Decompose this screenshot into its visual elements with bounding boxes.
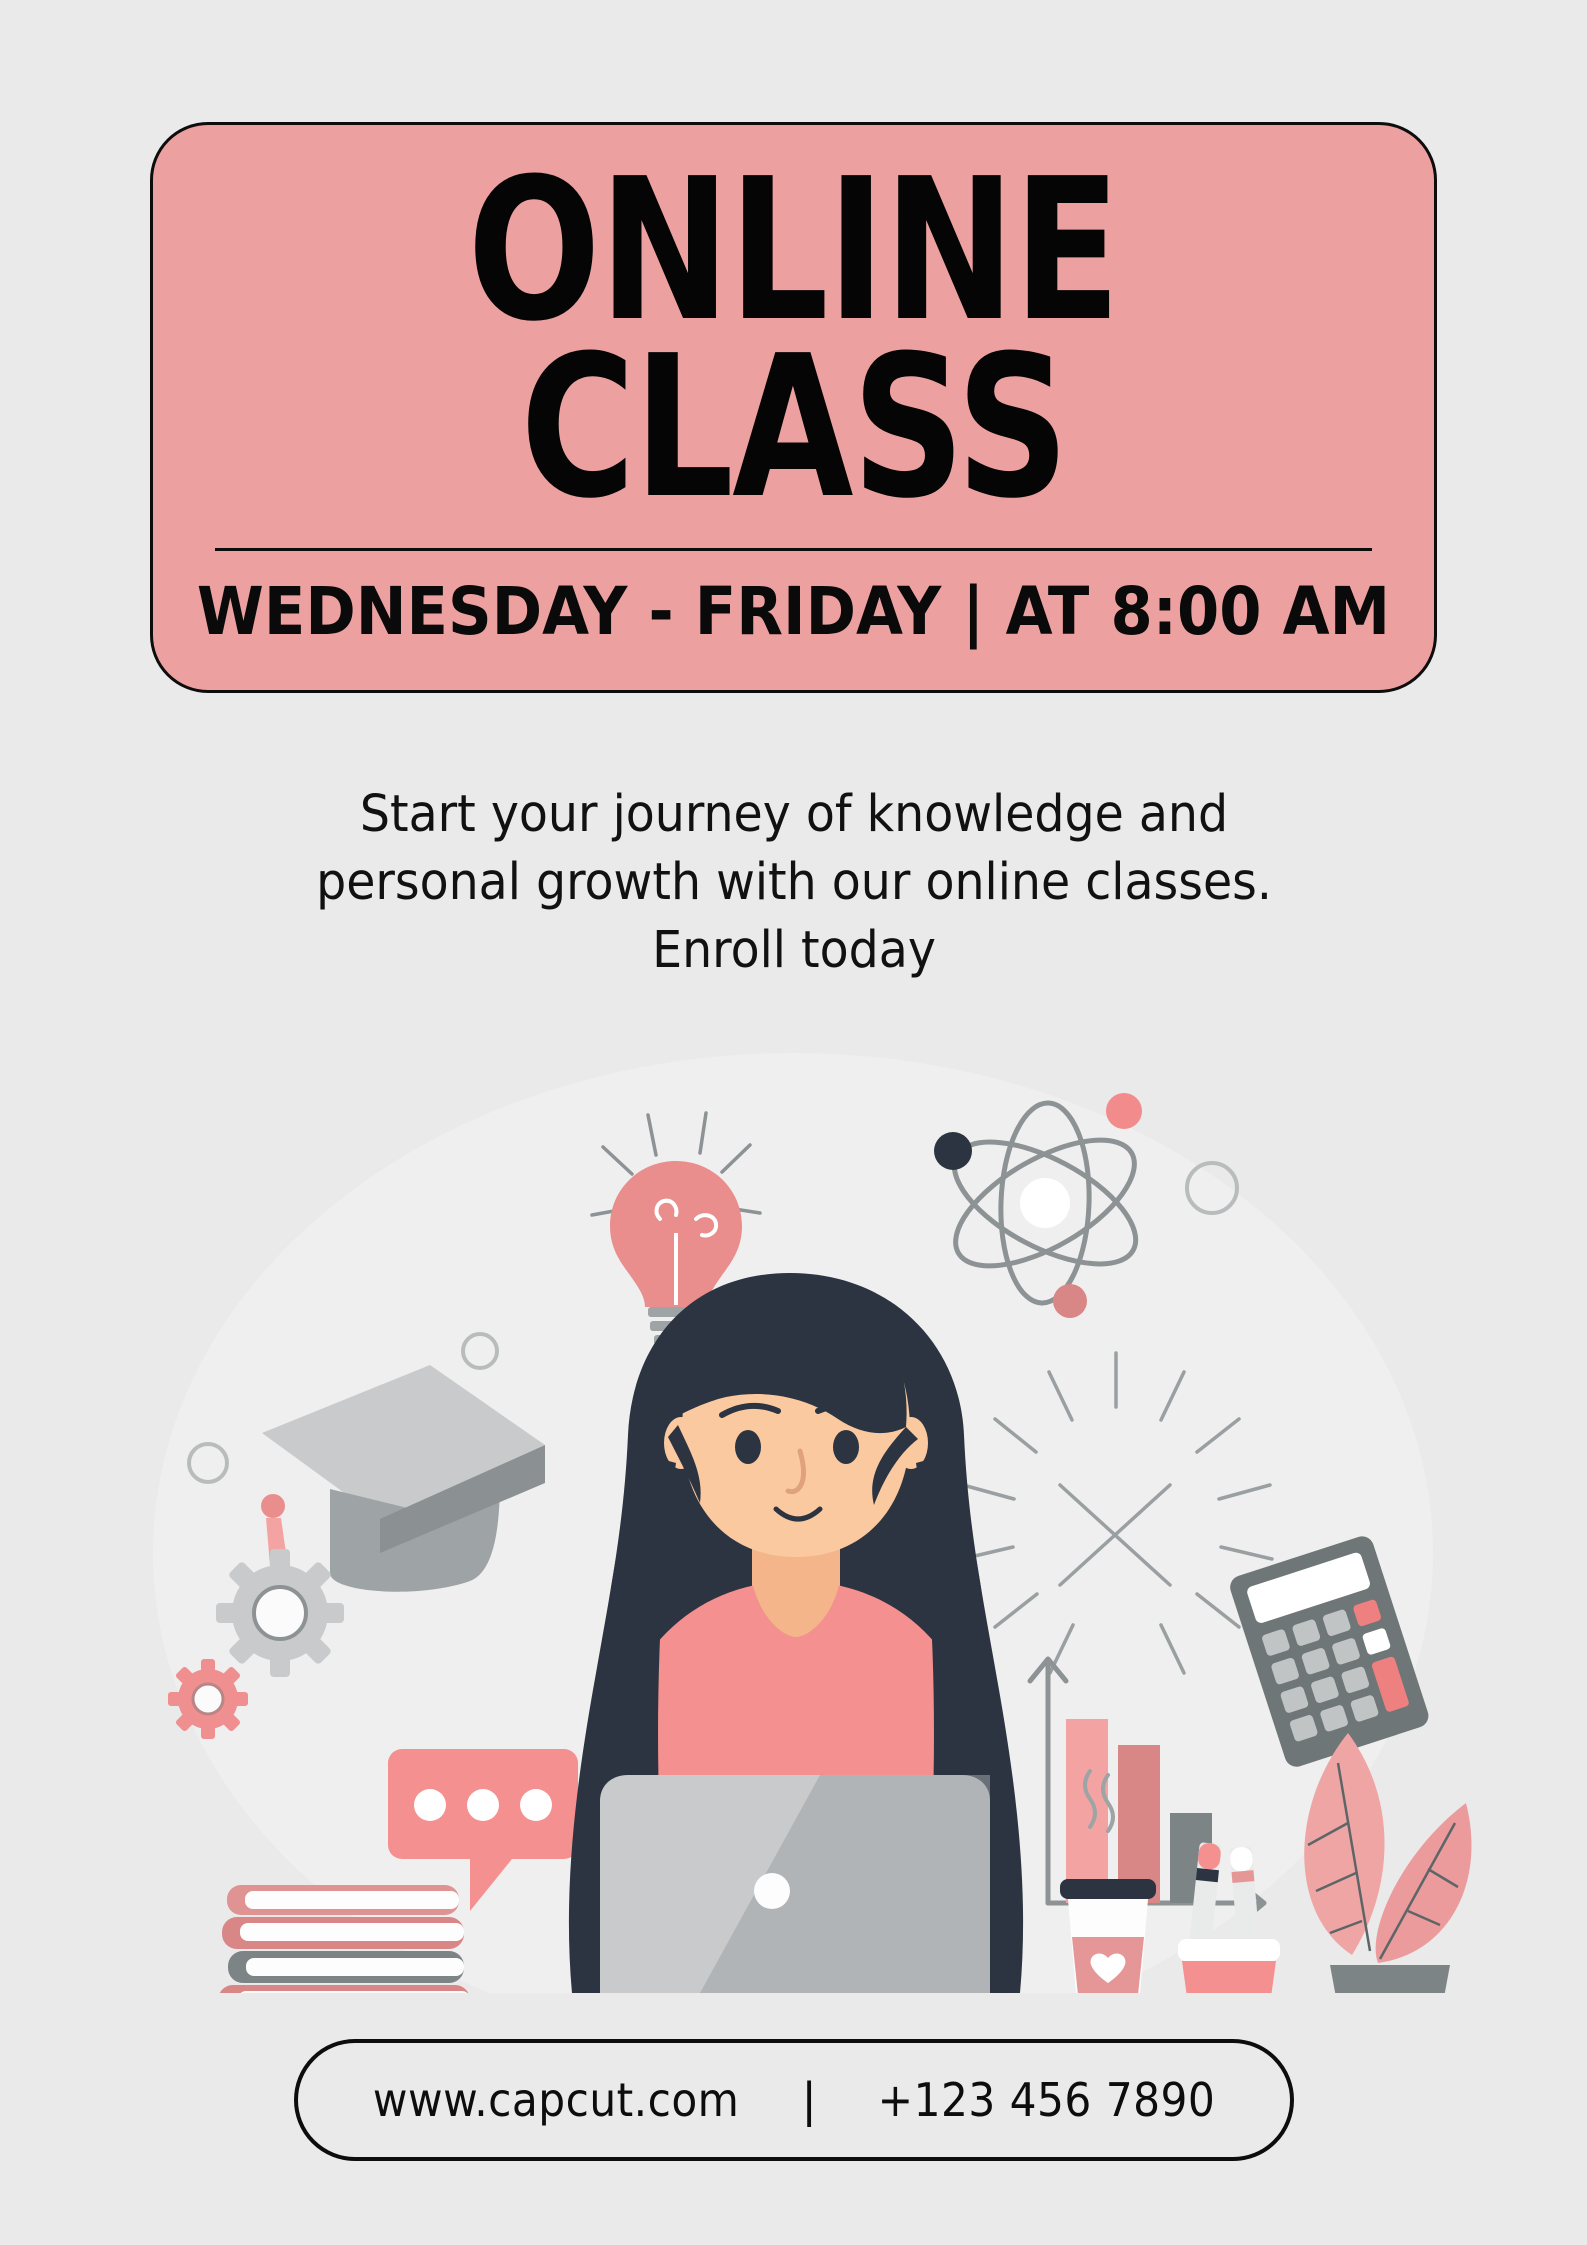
page-title-line-1: ONLINE — [468, 167, 1120, 336]
title-divider — [215, 548, 1372, 551]
illustration-svg — [0, 1033, 1587, 1993]
book-2 — [222, 1917, 464, 1949]
eye-left — [735, 1430, 761, 1464]
phone-number[interactable]: +123 456 7890 — [878, 2073, 1216, 2127]
bar-1 — [1066, 1719, 1108, 1903]
eye-right — [833, 1430, 859, 1464]
website-link[interactable]: www.capcut.com — [373, 2073, 739, 2127]
potted-plant-icon — [1304, 1733, 1471, 1993]
footer-separator: | — [801, 2077, 817, 2123]
small-gear-icon — [168, 1659, 248, 1739]
laptop-logo — [754, 1873, 790, 1909]
header-card: ONLINE CLASS WEDNESDAY - FRIDAY | AT 8:0… — [150, 122, 1437, 693]
atom-electron-pink — [1106, 1093, 1142, 1129]
cup-rim — [1178, 1939, 1280, 1961]
page-title-line-2: CLASS — [520, 344, 1067, 513]
atom-nucleus — [1020, 1178, 1070, 1228]
contact-footer: www.capcut.com | +123 456 7890 — [294, 2039, 1294, 2161]
description-block: Start your journey of knowledge and pers… — [254, 781, 1333, 984]
gear-icon — [216, 1549, 344, 1677]
book-1 — [227, 1885, 459, 1915]
pencil-cup-body — [1182, 1961, 1276, 1993]
description-line-3: Enroll today — [254, 917, 1333, 985]
poster-canvas: ONLINE CLASS WEDNESDAY - FRIDAY | AT 8:0… — [0, 0, 1587, 2245]
atom-electron-rose — [1053, 1284, 1087, 1318]
book-stack-icon — [218, 1885, 470, 1993]
tassel-knot — [261, 1494, 285, 1518]
plant-pot — [1330, 1965, 1450, 1993]
atom-electron-navy — [934, 1132, 972, 1170]
cup-lid — [1060, 1879, 1156, 1899]
illustration — [0, 1033, 1587, 1993]
description-line-2: personal growth with our online classes. — [254, 849, 1333, 917]
schedule-text: WEDNESDAY - FRIDAY | AT 8:00 AM — [197, 573, 1390, 650]
book-3 — [228, 1951, 464, 1983]
description-line-1: Start your journey of knowledge and — [254, 781, 1333, 849]
book-4 — [218, 1985, 470, 1993]
